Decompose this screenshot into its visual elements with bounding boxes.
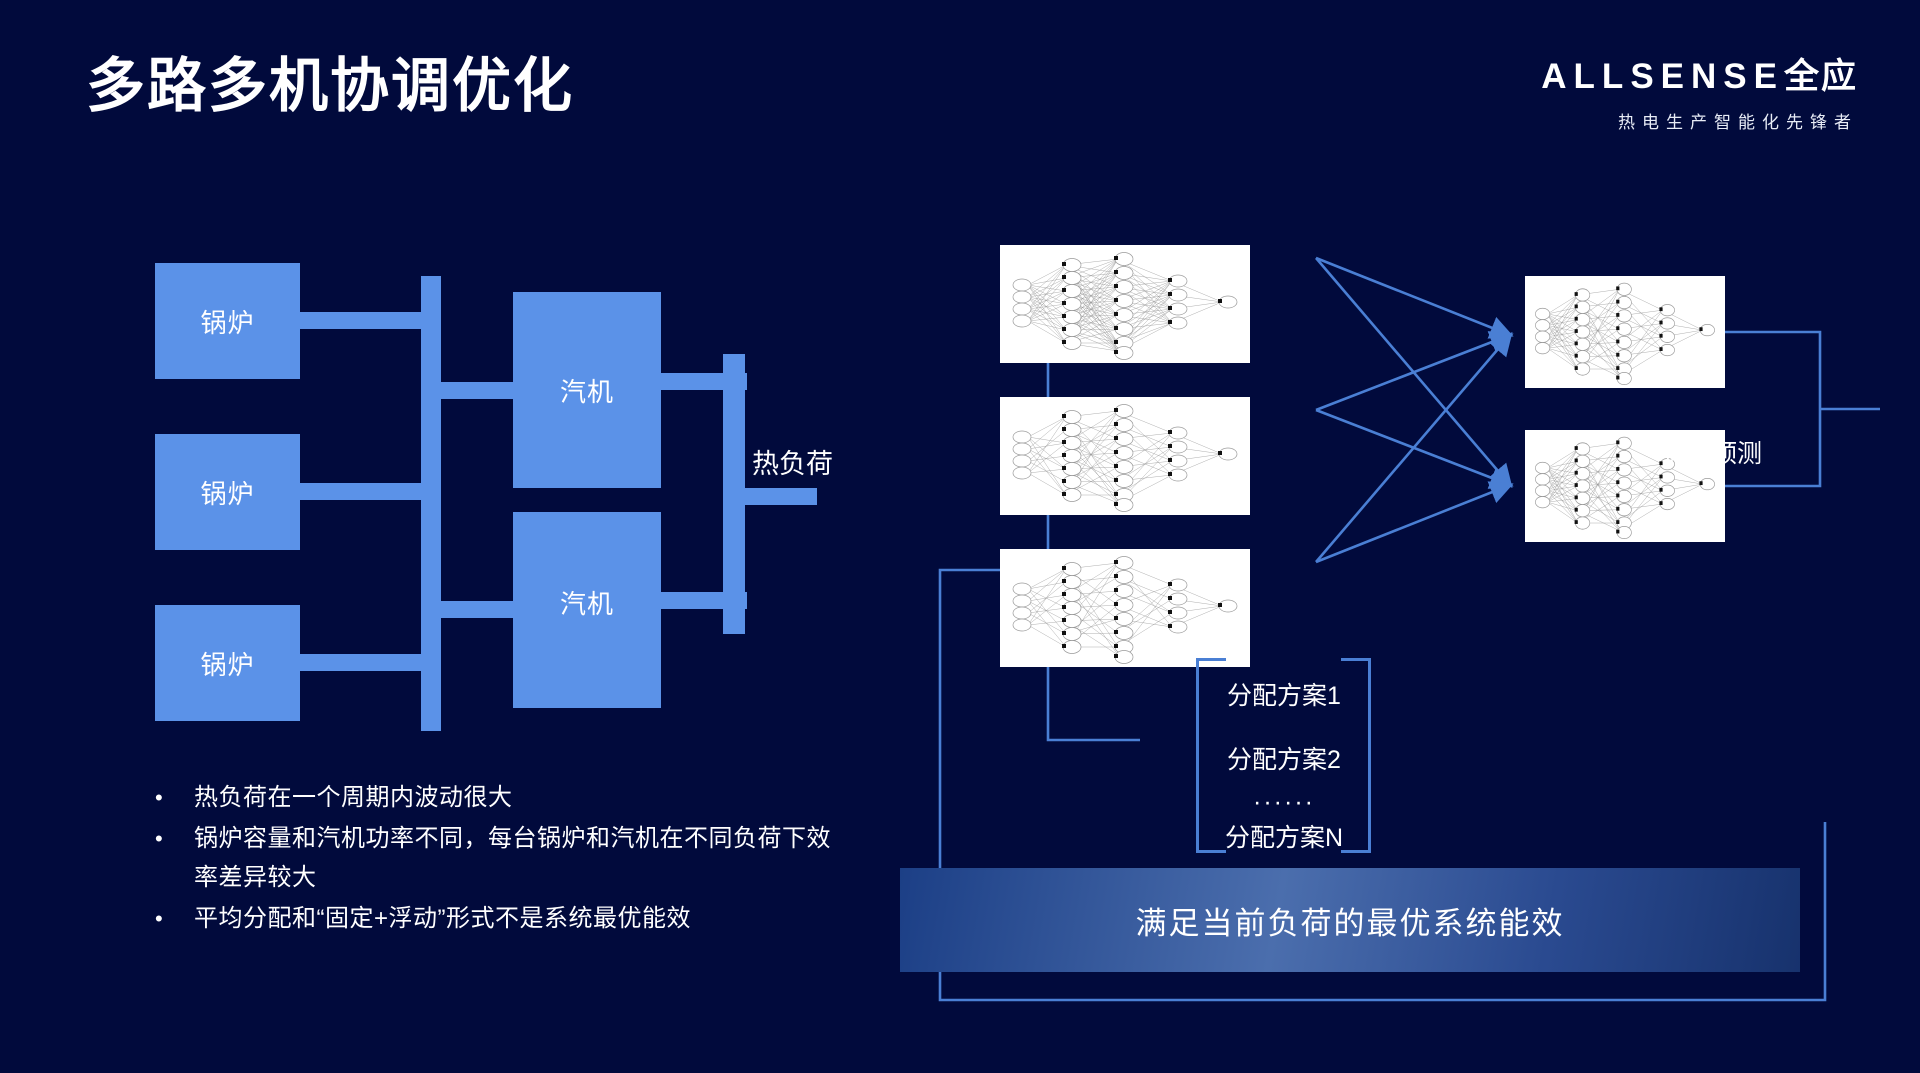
- bracket-left-top: [1196, 658, 1226, 661]
- load-forecast-label: 负荷预测: [1662, 434, 1762, 470]
- neural-net-image-output-1: [1525, 276, 1725, 388]
- heat-load-outlet: [745, 488, 817, 505]
- steam-header-bus: [421, 276, 441, 731]
- plant-schematic: 锅炉 锅炉 锅炉 汽机 汽机 热负荷: [0, 0, 900, 760]
- neural-net-image-input-1: [1000, 245, 1250, 363]
- list-item-text: 平均分配和“固定+浮动”形式不是系统最优能效: [194, 899, 691, 938]
- heat-load-label: 热负荷: [752, 442, 833, 481]
- summary-banner-text: 满足当前负荷的最优系统能效: [1136, 898, 1565, 943]
- boiler-block-2: 锅炉: [155, 434, 300, 550]
- bracket-right-top: [1341, 658, 1371, 661]
- turbine-block-1-label: 汽机: [560, 372, 614, 409]
- turbine-block-2-label: 汽机: [560, 584, 614, 621]
- list-item-text: 热负荷在一个周期内波动很大: [194, 778, 513, 817]
- heat-load-header-bus: [723, 354, 745, 634]
- bullet-marker-icon: •: [150, 819, 194, 858]
- boiler-block-1: 锅炉: [155, 263, 300, 379]
- list-item: • 热负荷在一个周期内波动很大: [150, 778, 850, 817]
- pipe-bus-to-turbine2: [441, 601, 516, 618]
- neural-net-image-input-3: [1000, 549, 1250, 667]
- boiler-block-3: 锅炉: [155, 605, 300, 721]
- pipe-boiler2-to-bus: [300, 483, 438, 500]
- list-item: • 平均分配和“固定+浮动”形式不是系统最优能效: [150, 899, 850, 938]
- boiler-block-1-label: 锅炉: [200, 303, 254, 340]
- logo-wordmark-en: ALLSENSE: [1541, 57, 1784, 96]
- boiler-block-3-label: 锅炉: [200, 645, 254, 682]
- turbine-block-1: 汽机: [513, 292, 661, 488]
- neural-net-image-input-2: [1000, 397, 1250, 515]
- pipe-bus-to-turbine1: [441, 382, 516, 399]
- brand-logo: ALLSENSE全应 热电生产智能化先锋者: [1541, 48, 1858, 133]
- boiler-block-2-label: 锅炉: [200, 474, 254, 511]
- allocation-scheme-1: 分配方案1: [1164, 676, 1404, 712]
- logo-wordmark-cn: 全应: [1784, 57, 1858, 96]
- pipe-boiler1-to-bus: [300, 312, 438, 329]
- observations-list: • 热负荷在一个周期内波动很大 • 锅炉容量和汽机功率不同，每台锅炉和汽机在不同…: [150, 778, 850, 940]
- logo-tagline: 热电生产智能化先锋者: [1541, 108, 1858, 133]
- logo-wordmark: ALLSENSE全应: [1541, 48, 1858, 99]
- pipe-boiler3-to-bus: [300, 654, 438, 671]
- summary-banner: 满足当前负荷的最优系统能效: [900, 868, 1800, 972]
- bullet-marker-icon: •: [150, 778, 194, 817]
- turbine-block-2: 汽机: [513, 512, 661, 708]
- allocation-scheme-ellipsis: ······: [1164, 788, 1404, 817]
- list-item: • 锅炉容量和汽机功率不同，每台锅炉和汽机在不同负荷下效率差异较大: [150, 819, 850, 897]
- allocation-schemes-group: 分配方案1 分配方案2 ······ 分配方案N: [1196, 658, 1436, 853]
- list-item-text: 锅炉容量和汽机功率不同，每台锅炉和汽机在不同负荷下效率差异较大: [194, 819, 850, 897]
- slide-root: 多路多机协调优化 ALLSENSE全应 热电生产智能化先锋者 锅炉 锅炉 锅炉 …: [0, 0, 1920, 1073]
- allocation-scheme-2: 分配方案2: [1164, 740, 1404, 776]
- allocation-scheme-n: 分配方案N: [1164, 818, 1404, 854]
- bullet-marker-icon: •: [150, 899, 194, 938]
